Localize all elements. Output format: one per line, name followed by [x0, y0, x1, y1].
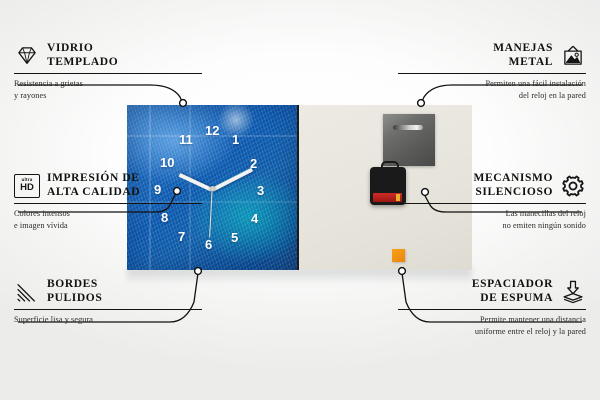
hanger-keyhole-slot [393, 125, 423, 130]
feature-desc: Resistencia a grietas y rayones [14, 78, 202, 101]
infographic-stage: 12 1 2 3 4 5 6 7 8 9 10 11 [0, 0, 600, 400]
mechanism-hook [381, 161, 399, 172]
feature-rule [14, 203, 202, 204]
feature-rule [14, 73, 202, 74]
picture-frame-hanger-icon [560, 43, 586, 69]
feature-rule [14, 309, 202, 310]
feature-manejas-metal: MANEJAS METAL Permiten una fácil instala… [398, 42, 586, 101]
feature-title-line1: VIDRIO [47, 42, 118, 56]
feature-title-line1: MANEJAS [493, 42, 553, 56]
feature-rule [398, 203, 586, 204]
clock-center-pin [210, 186, 215, 191]
feature-title-line2: SILENCIOSO [473, 186, 553, 200]
feature-desc: Superficie lisa y segura [14, 314, 202, 326]
feature-desc-line1: Superficie lisa y segura [14, 314, 202, 326]
clock-numeral-10: 10 [160, 156, 174, 169]
feature-desc-line1: Permite mantener una distancia [398, 314, 586, 326]
feature-title: MECANISMO SILENCIOSO [473, 172, 553, 199]
feature-title-line2: METAL [493, 56, 553, 70]
feature-header: MECANISMO SILENCIOSO [398, 172, 586, 199]
feature-title: BORDES PULIDOS [47, 278, 102, 305]
clock-numeral-11: 11 [179, 133, 193, 146]
clock-numeral-7: 7 [178, 230, 185, 243]
foam-spacer [392, 249, 405, 262]
feature-title: MANEJAS METAL [493, 42, 553, 69]
feature-title: ESPACIADOR DE ESPUMA [472, 278, 553, 305]
feature-title-line1: BORDES [47, 278, 102, 292]
feature-desc-line2: y rayones [14, 90, 202, 102]
feature-header: MANEJAS METAL [398, 42, 586, 69]
feature-title-line2: ALTA CALIDAD [47, 186, 140, 200]
feature-header: ESPACIADOR DE ESPUMA [398, 278, 586, 305]
diagonal-lines-icon [14, 279, 40, 305]
clock-numeral-1: 1 [232, 133, 239, 146]
feature-desc-line1: Resistencia a grietas [14, 78, 202, 90]
feature-desc-line2: no emiten ningún sonido [398, 220, 586, 232]
feature-title: VIDRIO TEMPLADO [47, 42, 118, 69]
ultra-hd-icon: ultra HD [14, 174, 40, 198]
feature-impresion-alta-calidad: ultra HD IMPRESIÓN DE ALTA CALIDAD Color… [14, 172, 202, 231]
feature-desc-line2: uniforme entre el reloj y la pared [398, 326, 586, 338]
feature-desc: Permiten una fácil instalación del reloj… [398, 78, 586, 101]
gear-icon [560, 173, 586, 199]
feature-title-line2: PULIDOS [47, 292, 102, 306]
feature-desc-line2: del reloj en la pared [398, 90, 586, 102]
feature-header: ultra HD IMPRESIÓN DE ALTA CALIDAD [14, 172, 202, 199]
feature-title-line1: ESPACIADOR [472, 278, 553, 292]
feature-title-line1: IMPRESIÓN DE [47, 172, 140, 186]
feature-vidrio-templado: VIDRIO TEMPLADO Resistencia a grietas y … [14, 42, 202, 101]
clock-numeral-4: 4 [251, 212, 258, 225]
feature-title-line2: TEMPLADO [47, 56, 118, 70]
feature-desc: Las manecillas del reloj no emiten ningú… [398, 208, 586, 231]
feature-rule [398, 73, 586, 74]
clock-numeral-12: 12 [205, 124, 219, 137]
feature-header: VIDRIO TEMPLADO [14, 42, 202, 69]
feature-header: BORDES PULIDOS [14, 278, 202, 305]
diamond-icon [14, 43, 40, 69]
feature-desc-line1: Permiten una fácil instalación [398, 78, 586, 90]
feature-desc: Permite mantener una distancia uniforme … [398, 314, 586, 337]
feature-title-line2: DE ESPUMA [472, 292, 553, 306]
clock-numeral-6: 6 [205, 238, 212, 251]
feature-title-line1: MECANISMO [473, 172, 553, 186]
clock-numeral-5: 5 [231, 231, 238, 244]
feature-espaciador-espuma: ESPACIADOR DE ESPUMA Permite mantener un… [398, 278, 586, 337]
feature-desc-line2: e imagen vívida [14, 220, 202, 232]
arrow-down-layers-icon [560, 279, 586, 305]
metal-hanger-plate [383, 114, 435, 166]
feature-bordes-pulidos: BORDES PULIDOS Superficie lisa y segura [14, 278, 202, 326]
clock-numeral-3: 3 [257, 184, 264, 197]
ultra-hd-icon-bottom: HD [20, 183, 34, 193]
feature-rule [398, 309, 586, 310]
feature-desc: Colores intensos e imagen vívida [14, 208, 202, 231]
feature-title: IMPRESIÓN DE ALTA CALIDAD [47, 172, 140, 199]
feature-desc-line1: Colores intensos [14, 208, 202, 220]
feature-mecanismo-silencioso: MECANISMO SILENCIOSO Las manecillas del … [398, 172, 586, 231]
feature-desc-line1: Las manecillas del reloj [398, 208, 586, 220]
